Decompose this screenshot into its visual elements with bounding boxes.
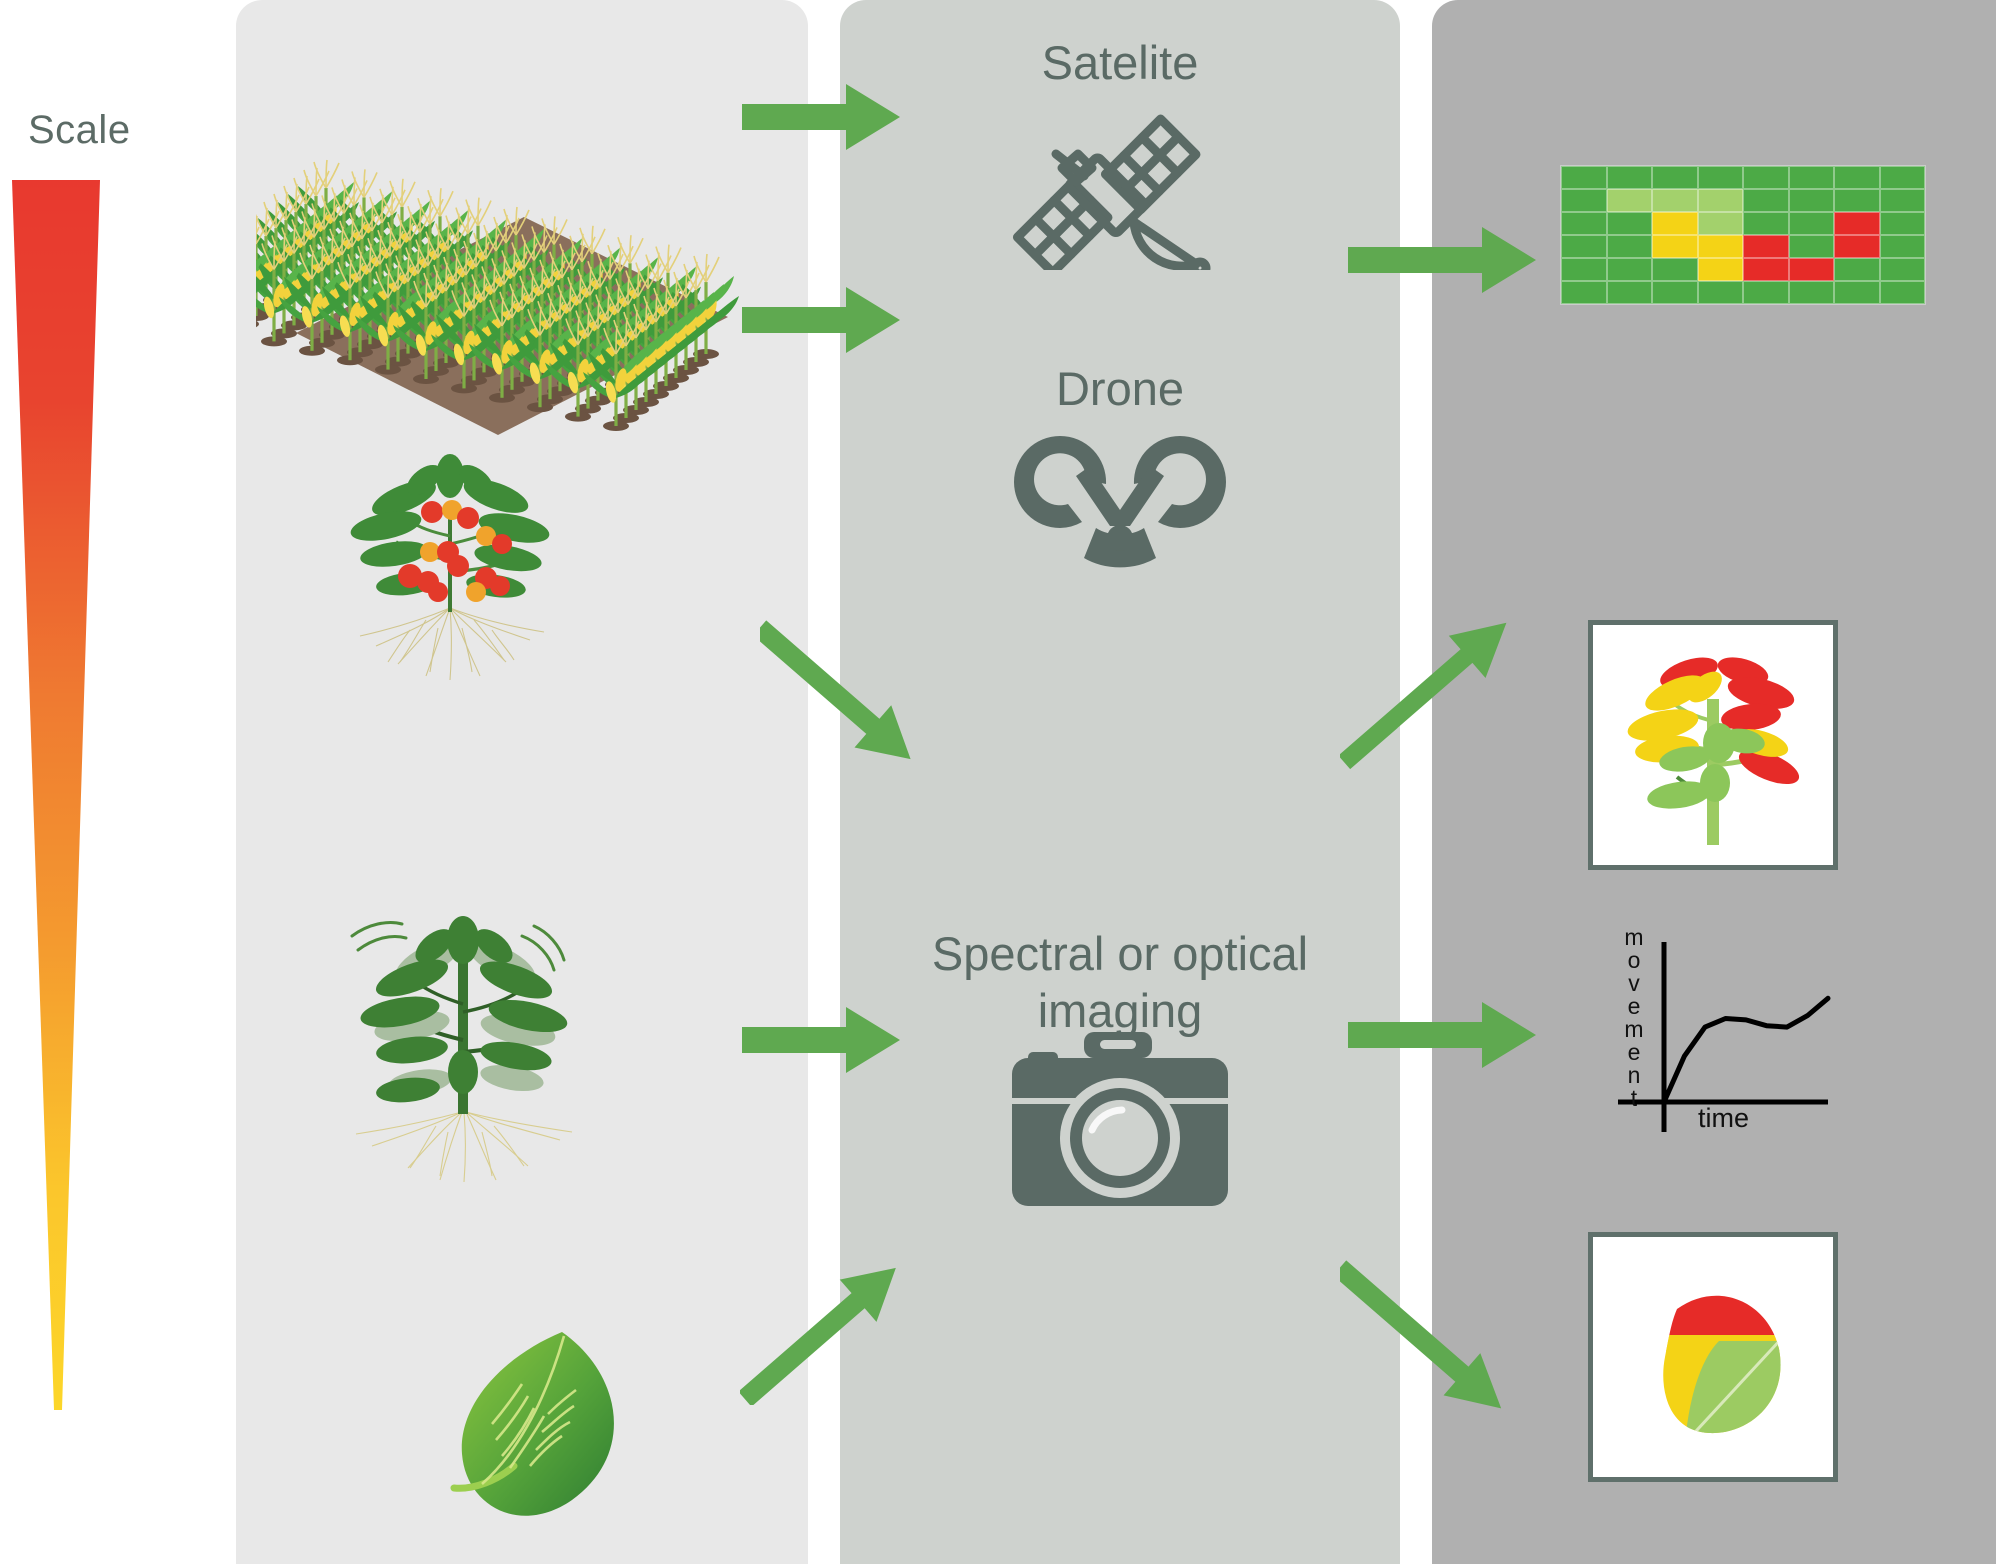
heatmap-cell-r3-c7 [1880, 235, 1926, 258]
heatmap-cell-r1-c7 [1880, 189, 1926, 212]
heatmap-cell-r2-c6 [1834, 212, 1880, 235]
heatmap-cell-r3-c1 [1607, 235, 1653, 258]
heatmap-cell-r5-c1 [1607, 281, 1653, 304]
heatmap-cell-r1-c4 [1743, 189, 1789, 212]
heatmap-cell-r2-c4 [1743, 212, 1789, 235]
heatmap-cell-r2-c3 [1698, 212, 1744, 235]
heatmap-cell-r4-c0 [1561, 258, 1607, 281]
arrow-tomato-to-imaging [760, 615, 960, 780]
camera-icon [1012, 1026, 1228, 1212]
corn-field-illustration [256, 105, 756, 435]
heatmap-cell-r0-c7 [1880, 166, 1926, 189]
y-label-letter: v [1622, 972, 1646, 995]
heatmap-cell-r4-c2 [1652, 258, 1698, 281]
heatmap-cell-r3-c3 [1698, 235, 1744, 258]
leaf-segment-diseased [1643, 1277, 1803, 1335]
heatmap-cell-r1-c2 [1652, 189, 1698, 212]
drone-label: Drone [840, 360, 1400, 417]
satellite-icon [1000, 110, 1240, 270]
arrow-imaging-to-movement-chart [1348, 1000, 1538, 1070]
moving-plant-illustration [316, 900, 616, 1190]
heatmap-cell-r3-c0 [1561, 235, 1607, 258]
heatmap-cell-r0-c6 [1834, 166, 1880, 189]
field-heatmap [1560, 165, 1926, 305]
arrow-imaging-to-classified-plant [1340, 600, 1560, 770]
heatmap-cell-r2-c5 [1789, 212, 1835, 235]
heatmap-cell-r2-c7 [1880, 212, 1926, 235]
heatmap-cell-r0-c4 [1743, 166, 1789, 189]
y-label-letter: m [1622, 1018, 1646, 1041]
heatmap-cell-r2-c2 [1652, 212, 1698, 235]
heatmap-cell-r5-c5 [1789, 281, 1835, 304]
tomato-plant-illustration [300, 440, 600, 690]
y-label-letter: m [1622, 926, 1646, 949]
heatmap-cell-r2-c0 [1561, 212, 1607, 235]
heatmap-cell-r4-c5 [1789, 258, 1835, 281]
heatmap-cell-r1-c6 [1834, 189, 1880, 212]
heatmap-cell-r1-c0 [1561, 189, 1607, 212]
heatmap-cell-r0-c2 [1652, 166, 1698, 189]
heatmap-cell-r3-c4 [1743, 235, 1789, 258]
heatmap-cell-r5-c0 [1561, 281, 1607, 304]
heatmap-cell-r5-c4 [1743, 281, 1789, 304]
heatmap-cell-r0-c3 [1698, 166, 1744, 189]
scale-legend-title: Scale [28, 108, 131, 153]
heatmap-cell-r3-c2 [1652, 235, 1698, 258]
y-label-letter: n [1622, 1064, 1646, 1087]
drone-icon [1010, 430, 1230, 590]
y-label-letter: e [1622, 1041, 1646, 1064]
arrow-imaging-to-classified-leaf [1340, 1255, 1560, 1425]
heatmap-cell-r4-c6 [1834, 258, 1880, 281]
heatmap-cell-r5-c2 [1652, 281, 1698, 304]
heatmap-cell-r4-c7 [1880, 258, 1926, 281]
heatmap-cell-r1-c3 [1698, 189, 1744, 212]
heatmap-cell-r5-c7 [1880, 281, 1926, 304]
heatmap-cell-r1-c5 [1789, 189, 1835, 212]
satellite-label: Satelite [840, 34, 1400, 91]
arrow-leaf-to-imaging [740, 1240, 940, 1405]
arrow-field-to-drone [742, 285, 902, 355]
heatmap-cell-r5-c3 [1698, 281, 1744, 304]
y-label-letter: o [1622, 949, 1646, 972]
y-label-letter: e [1622, 995, 1646, 1018]
single-leaf-illustration [440, 1320, 670, 1540]
imaging-label-line-1: Spectral or optical [932, 927, 1308, 980]
heatmap-cell-r3-c6 [1834, 235, 1880, 258]
heatmap-cell-r2-c1 [1607, 212, 1653, 235]
arrow-moving-plant-to-imaging [742, 1005, 902, 1075]
chart-x-axis-label: time [1698, 1103, 1749, 1134]
heatmap-cell-r3-c5 [1789, 235, 1835, 258]
heatmap-cell-r0-c1 [1607, 166, 1653, 189]
diagram-canvas: Scale [0, 0, 1996, 1564]
heatmap-cell-r4-c4 [1743, 258, 1789, 281]
arrow-field-to-satellite [742, 82, 902, 152]
scale-gradient-triangle [8, 180, 104, 1410]
movement-over-time-chart: m o v e m e n t time [1600, 920, 1860, 1150]
chart-y-axis-label: m o v e m e n t [1622, 926, 1646, 1110]
imaging-label: Spectral or optical imaging [840, 925, 1400, 1040]
heatmap-cell-r0-c0 [1561, 166, 1607, 189]
classified-leaf-box [1588, 1232, 1838, 1482]
heatmap-cell-r5-c6 [1834, 281, 1880, 304]
arrow-satellite-to-heatmap [1348, 225, 1538, 295]
classified-plant-icon [1593, 625, 1833, 865]
heatmap-cell-r1-c1 [1607, 189, 1653, 212]
y-label-letter: t [1622, 1087, 1646, 1110]
heatmap-cell-r4-c3 [1698, 258, 1744, 281]
heatmap-cell-r4-c1 [1607, 258, 1653, 281]
heatmap-cell-r0-c5 [1789, 166, 1835, 189]
classified-leaf-icon [1593, 1237, 1833, 1477]
classified-plant-box [1588, 620, 1838, 870]
